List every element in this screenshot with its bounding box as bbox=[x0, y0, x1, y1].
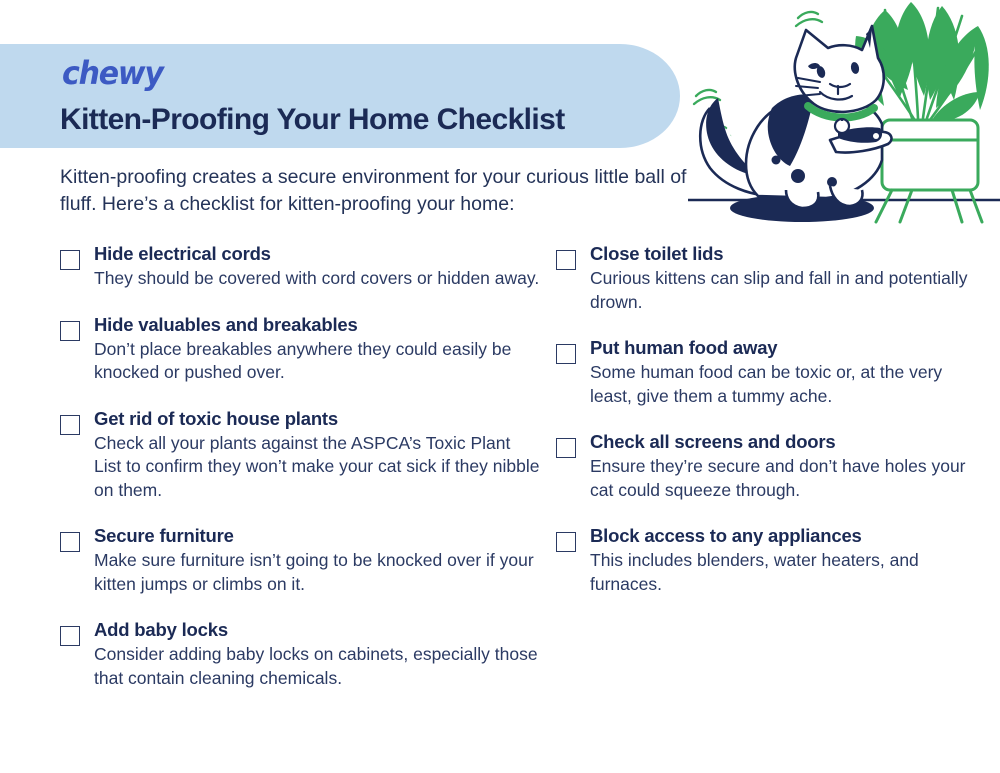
chewy-logo: chewy bbox=[62, 55, 163, 93]
checklist-item-text: Hide electrical cords They should be cov… bbox=[94, 242, 540, 291]
checkbox[interactable] bbox=[60, 532, 80, 552]
checkbox[interactable] bbox=[60, 321, 80, 341]
checklist-item[interactable]: Check all screens and doors Ensure they’… bbox=[556, 430, 976, 502]
checklist-item-text: Secure furniture Make sure furniture isn… bbox=[94, 524, 540, 596]
checklist-item-description: Check all your plants against the ASPCA’… bbox=[94, 432, 540, 503]
checklist-item-text: Get rid of toxic house plants Check all … bbox=[94, 407, 540, 503]
checkbox[interactable] bbox=[556, 344, 576, 364]
checklist-item-title: Add baby locks bbox=[94, 618, 540, 642]
checklist-item-text: Check all screens and doors Ensure they’… bbox=[590, 430, 976, 502]
checkbox[interactable] bbox=[60, 250, 80, 270]
checklist-item-title: Secure furniture bbox=[94, 524, 540, 548]
checkbox[interactable] bbox=[556, 250, 576, 270]
checklist-item-description: Consider adding baby locks on cabinets, … bbox=[94, 643, 540, 690]
checklist-item-description: Ensure they’re secure and don’t have hol… bbox=[590, 455, 976, 502]
checklist-item-description: They should be covered with cord covers … bbox=[94, 267, 540, 291]
cat-and-plant-illustration bbox=[680, 0, 1000, 225]
checklist-item-description: Don’t place breakables anywhere they cou… bbox=[94, 338, 540, 385]
checklist-item-description: Make sure furniture isn’t going to be kn… bbox=[94, 549, 540, 596]
checklist-item-title: Hide valuables and breakables bbox=[94, 313, 540, 337]
checklist-item-text: Hide valuables and breakables Don’t plac… bbox=[94, 313, 540, 385]
checklist-column-left: Hide electrical cords They should be cov… bbox=[60, 242, 540, 712]
checklist-item[interactable]: Put human food away Some human food can … bbox=[556, 336, 976, 408]
checkbox[interactable] bbox=[60, 626, 80, 646]
checklist-item-text: Put human food away Some human food can … bbox=[590, 336, 976, 408]
checkbox[interactable] bbox=[60, 415, 80, 435]
checklist-item-title: Close toilet lids bbox=[590, 242, 976, 266]
checklist-item-title: Block access to any appliances bbox=[590, 524, 976, 548]
page-title: Kitten-Proofing Your Home Checklist bbox=[60, 103, 565, 137]
infographic-page: chewy Kitten-Proofing Your Home Checklis… bbox=[0, 0, 1000, 773]
checklist-item[interactable]: Get rid of toxic house plants Check all … bbox=[60, 407, 540, 503]
checklist-item[interactable]: Hide electrical cords They should be cov… bbox=[60, 242, 540, 291]
checklist-item-description: Curious kittens can slip and fall in and… bbox=[590, 267, 976, 314]
checklist-item-text: Block access to any appliances This incl… bbox=[590, 524, 976, 596]
checklist-item[interactable]: Add baby locks Consider adding baby lock… bbox=[60, 618, 540, 690]
intro-paragraph: Kitten-proofing creates a secure environ… bbox=[60, 164, 690, 218]
checklist-item[interactable]: Hide valuables and breakables Don’t plac… bbox=[60, 313, 540, 385]
checklist-item-description: Some human food can be toxic or, at the … bbox=[590, 361, 976, 408]
checklist-item-text: Close toilet lids Curious kittens can sl… bbox=[590, 242, 976, 314]
checklist-item-title: Put human food away bbox=[590, 336, 976, 360]
checklist-item[interactable]: Secure furniture Make sure furniture isn… bbox=[60, 524, 540, 596]
checklist-item-text: Add baby locks Consider adding baby lock… bbox=[94, 618, 540, 690]
checklist-item-title: Hide electrical cords bbox=[94, 242, 540, 266]
checklist-item-title: Check all screens and doors bbox=[590, 430, 976, 454]
checkbox[interactable] bbox=[556, 532, 576, 552]
checklist-item-title: Get rid of toxic house plants bbox=[94, 407, 540, 431]
checklist-item[interactable]: Block access to any appliances This incl… bbox=[556, 524, 976, 596]
checklist-column-right: Close toilet lids Curious kittens can sl… bbox=[556, 242, 976, 618]
checklist-item[interactable]: Close toilet lids Curious kittens can sl… bbox=[556, 242, 976, 314]
checklist-item-description: This includes blenders, water heaters, a… bbox=[590, 549, 976, 596]
checkbox[interactable] bbox=[556, 438, 576, 458]
